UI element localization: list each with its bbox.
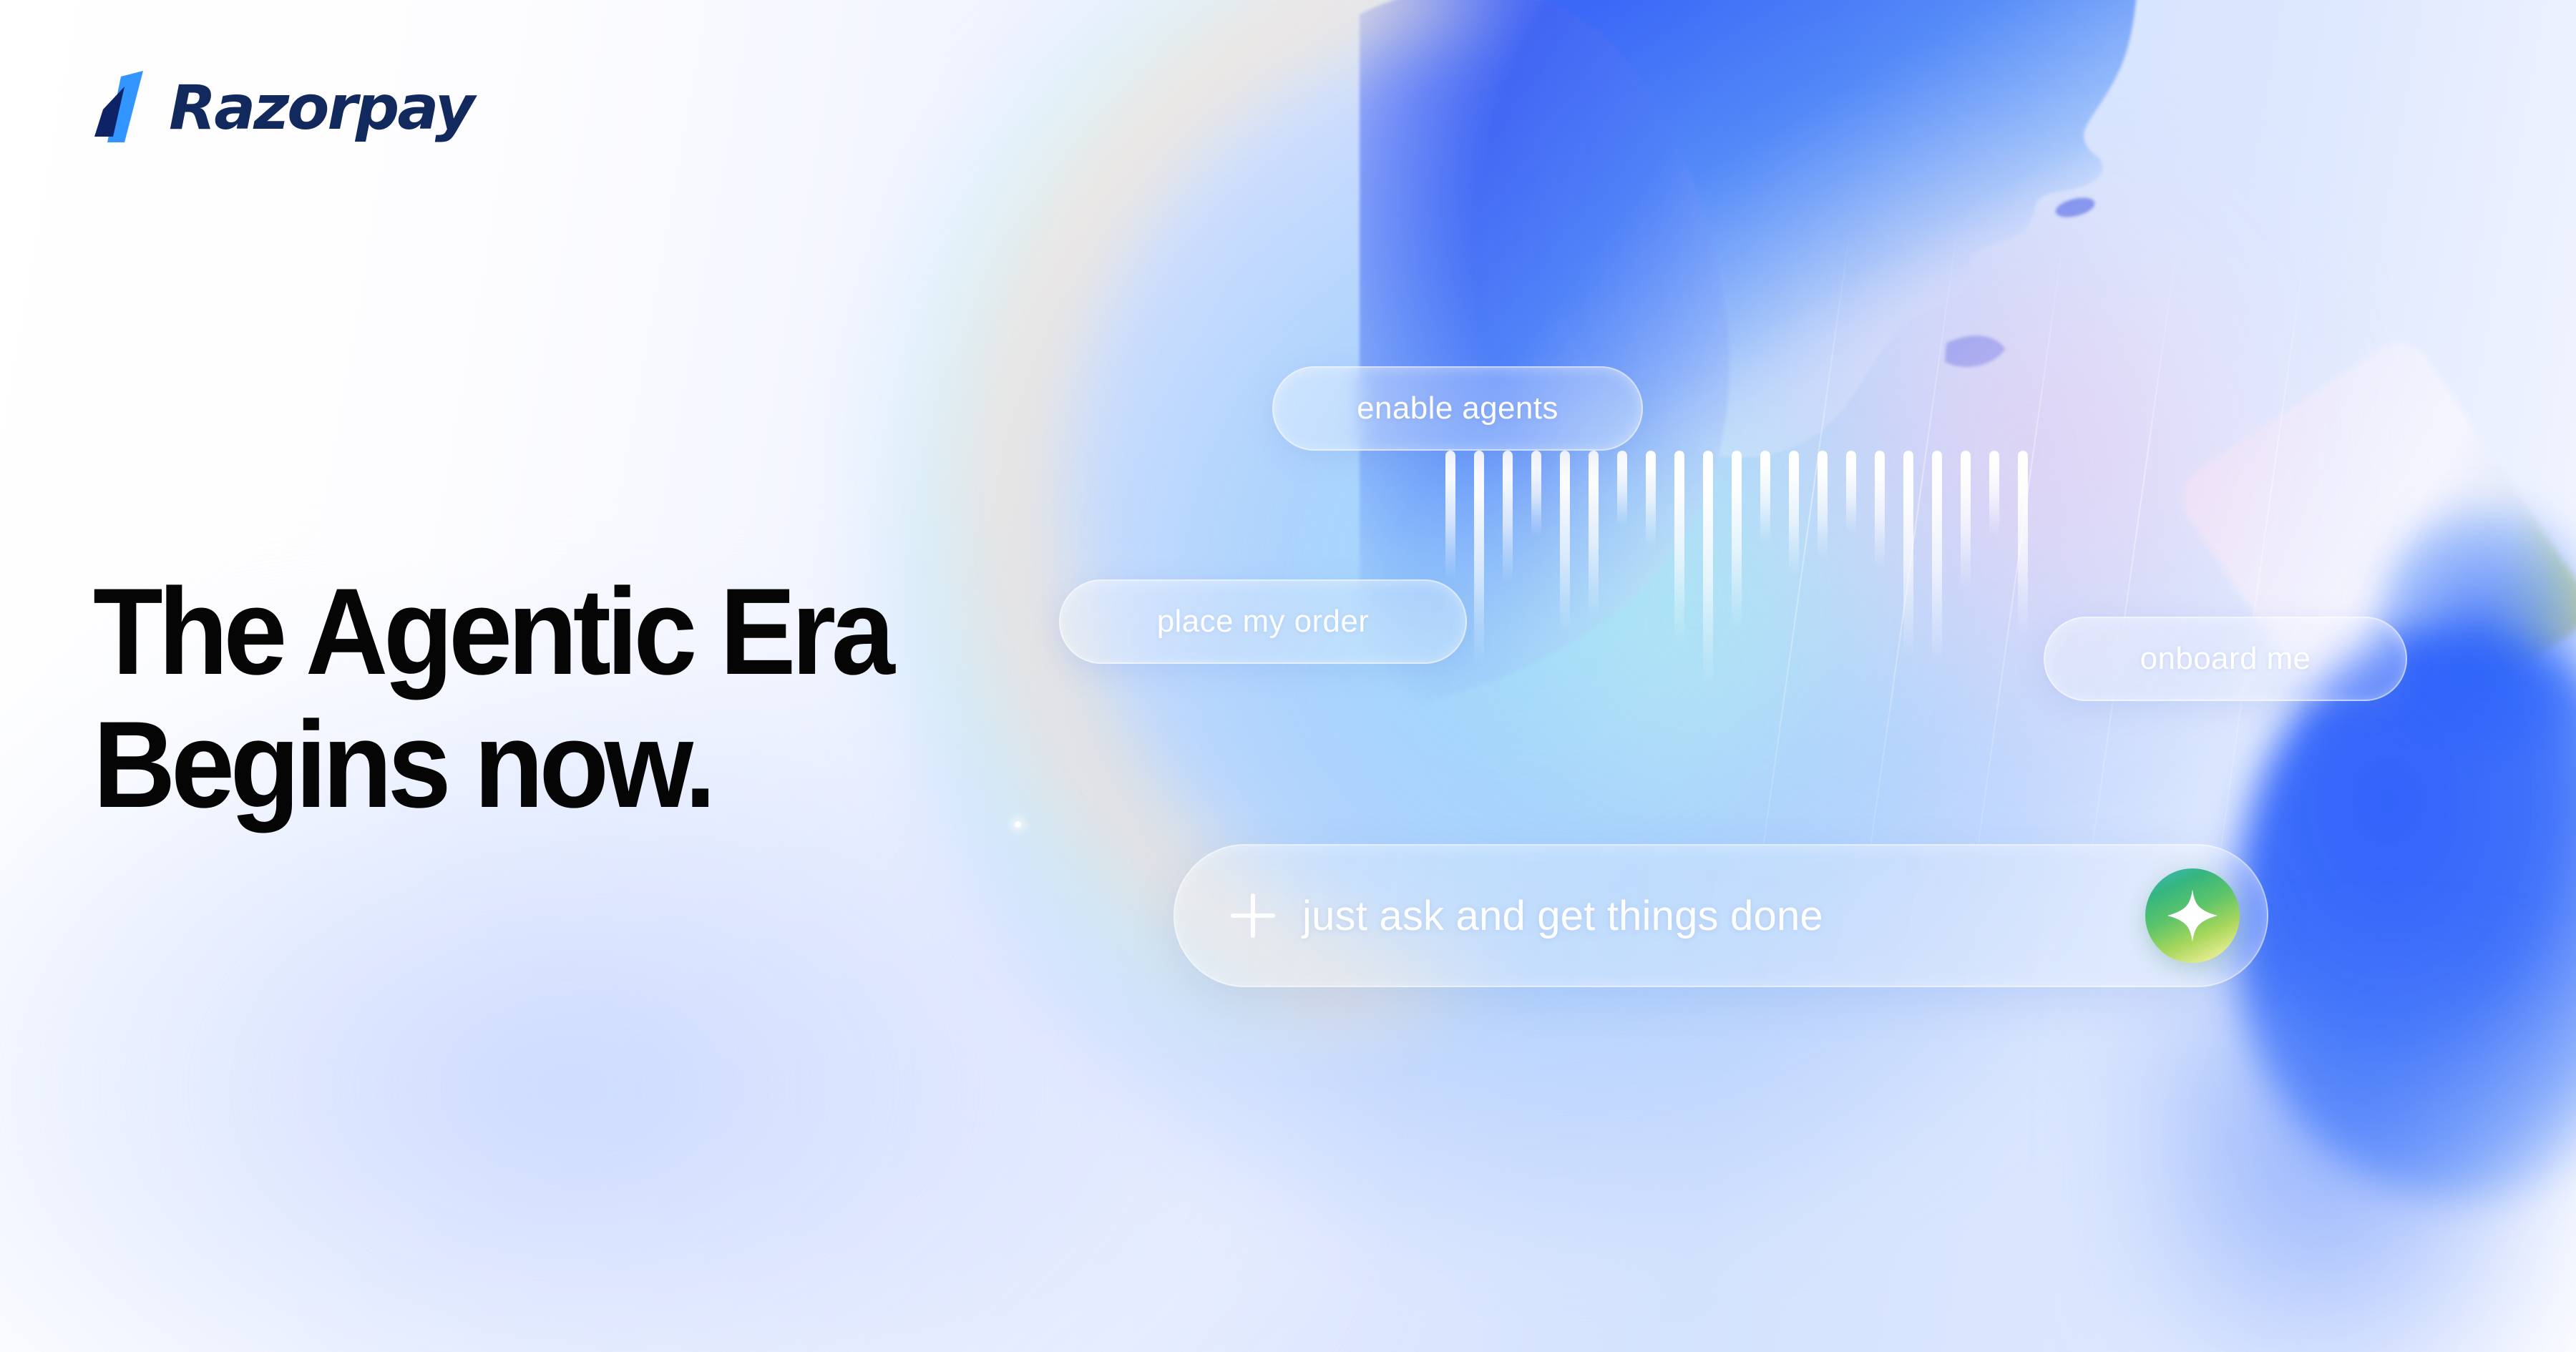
prompt-input-placeholder[interactable]: just ask and get things done xyxy=(1302,892,2145,940)
suggestion-pill-enable-agents[interactable]: enable agents xyxy=(1272,366,1643,451)
waveform-bar xyxy=(1646,451,1656,547)
phone-illustration xyxy=(2170,330,2576,775)
waveform-bar xyxy=(1474,451,1484,665)
sparkle-dot xyxy=(1015,821,1021,828)
voice-waveform xyxy=(1445,451,2018,787)
waveform-bar xyxy=(1989,451,1999,537)
headline-line-1: The Agentic Era xyxy=(93,563,890,700)
hero-banner: Razorpay The Agentic Era Begins now. ena… xyxy=(0,0,2576,1352)
sparkle-icon xyxy=(2165,888,2220,943)
razorpay-logo[interactable]: Razorpay xyxy=(92,68,473,148)
waveform-bar xyxy=(1703,451,1713,687)
waveform-bar xyxy=(1903,451,1913,658)
waveform-bar xyxy=(1789,451,1799,576)
waveform-bar xyxy=(1560,451,1570,633)
waveform-bar xyxy=(1445,451,1455,579)
waveform-bar xyxy=(1674,451,1684,644)
waveform-bar xyxy=(1932,451,1942,665)
razorpay-logo-mark xyxy=(92,68,172,148)
waveform-bar xyxy=(2018,451,2028,637)
hand-illustration xyxy=(2233,630,2576,1202)
waveform-bar xyxy=(1875,451,1885,569)
hand-thumb xyxy=(2376,501,2576,758)
waveform-bar xyxy=(1503,451,1513,583)
waveform-bar xyxy=(1846,451,1856,533)
waveform-bar xyxy=(1617,451,1627,526)
waveform-bar xyxy=(1732,451,1742,630)
suggestion-pill-label: enable agents xyxy=(1357,391,1558,426)
suggestion-pill-onboard-me[interactable]: onboard me xyxy=(2044,617,2407,701)
suggestion-pill-label: place my order xyxy=(1157,604,1370,640)
prompt-input-bar[interactable]: just ask and get things done xyxy=(1174,844,2268,987)
waveform-bar xyxy=(1961,451,1971,590)
plus-icon[interactable] xyxy=(1231,893,1275,938)
headline-line-2: Begins now. xyxy=(93,696,711,833)
suggestion-pill-place-my-order[interactable]: place my order xyxy=(1059,579,1467,664)
razorpay-wordmark: Razorpay xyxy=(169,77,473,139)
page-title: The Agentic Era Begins now. xyxy=(93,565,890,831)
waveform-bar xyxy=(1531,451,1541,537)
waveform-bar xyxy=(1818,451,1828,558)
sparkle-submit-button[interactable] xyxy=(2145,868,2240,963)
glow-blue-core xyxy=(2132,987,2576,1352)
suggestion-pill-label: onboard me xyxy=(2140,641,2311,677)
waveform-bar xyxy=(1760,451,1770,544)
waveform-bar xyxy=(1589,451,1599,619)
